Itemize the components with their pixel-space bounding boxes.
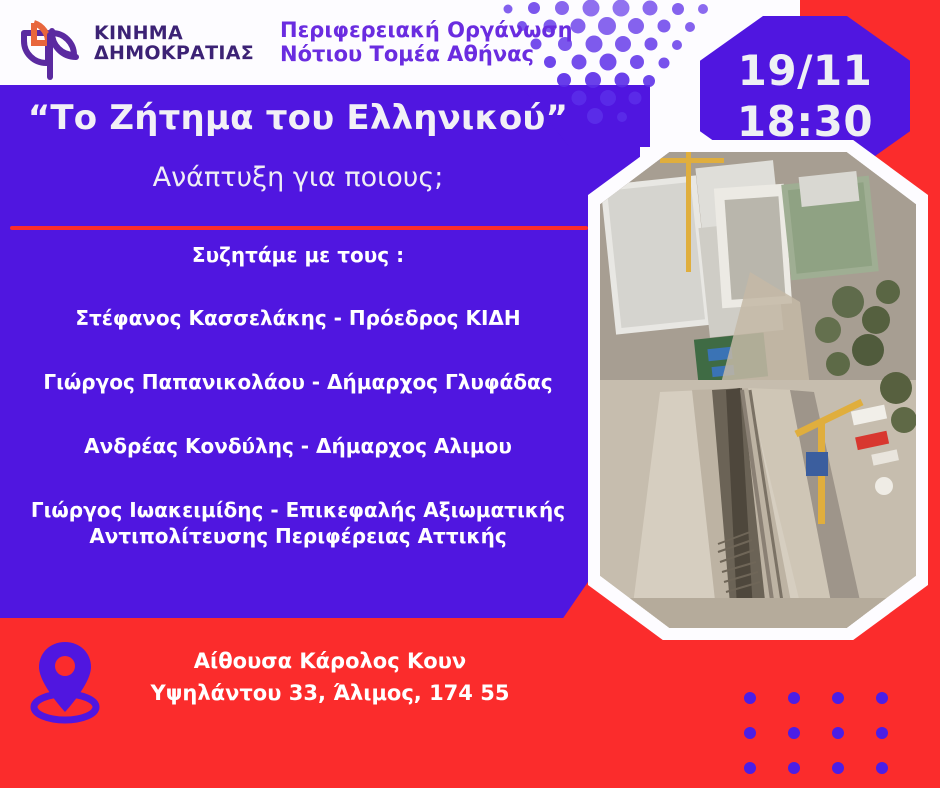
speaker-item: Γιώργος Παπανικολάου - Δήμαρχος Γλυφάδας	[0, 369, 596, 395]
speaker-item: Στέφανος Κασσελάκης - Πρόεδρος ΚΙΔΗ	[0, 305, 596, 331]
speaker-item: Ανδρέας Κονδύλης - Δήμαρχος Αλιμου	[0, 433, 596, 459]
venue-name: Αίθουσα Κάρολος Κουν	[120, 646, 540, 678]
brand-line-1: ΚΙΝΗΜΑ	[94, 23, 254, 43]
organization-line-2: Νότιου Τομέα Αθήνας	[280, 43, 573, 67]
poster-header: ΚΙΝΗΜΑ ΔΗΜΟΚΡΑΤΙΑΣ Περιφερειακή Οργάνωση…	[0, 0, 790, 86]
event-poster: ΚΙΝΗΜΑ ΔΗΜΟΚΡΑΤΙΑΣ Περιφερειακή Οργάνωση…	[0, 0, 940, 788]
organization-name: Περιφερειακή Οργάνωση Νότιου Τομέα Αθήνα…	[280, 19, 573, 66]
event-date: 19/11	[738, 45, 873, 96]
aerial-construction-site-photo-icon	[600, 152, 916, 628]
venue-info: Αίθουσα Κάρολος Κουν Υψηλάντου 33, Άλιμο…	[120, 646, 540, 709]
event-subtitle: Ανάπτυξη για ποιους;	[0, 162, 596, 193]
kinima-dimokratias-leaf-logo-icon	[14, 7, 88, 81]
event-title: “Το Ζήτημα του Ελληνικού”	[0, 98, 596, 138]
dot-grid-pattern-icon	[740, 690, 900, 776]
brand-line-2: ΔΗΜΟΚΡΑΤΙΑΣ	[94, 43, 254, 63]
speakers-intro: Συζητάμε με τους :	[0, 243, 596, 267]
speakers-section: Συζητάμε με τους : Στέφανος Κασσελάκης -…	[0, 243, 596, 549]
organization-line-1: Περιφερειακή Οργάνωση	[280, 19, 573, 43]
title-divider	[10, 226, 588, 230]
speaker-item: Γιώργος Ιωακειμίδης - Επικεφαλής Αξιωματ…	[0, 497, 596, 549]
venue-address: Υψηλάντου 33, Άλιμος, 174 55	[120, 678, 540, 710]
brand-name: ΚΙΝΗΜΑ ΔΗΜΟΚΡΑΤΙΑΣ	[94, 23, 254, 63]
location-pin-icon	[30, 636, 100, 726]
event-time: 18:30	[737, 96, 873, 147]
